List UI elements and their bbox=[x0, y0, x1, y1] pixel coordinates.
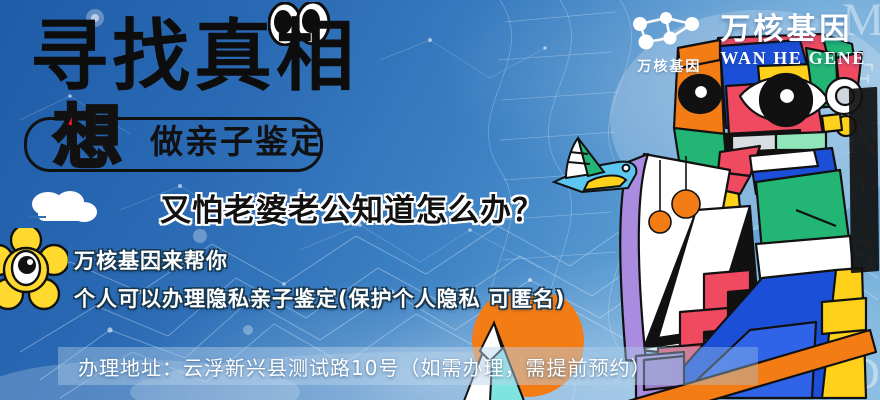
flower-with-eye-icon bbox=[0, 228, 68, 312]
stamp-character: 想 bbox=[53, 104, 122, 173]
cloud-icon bbox=[22, 190, 102, 224]
brand-text: 万核基因 WAN HE GENE bbox=[720, 8, 866, 69]
promo-banner: WOMEN'S DAY bbox=[0, 0, 880, 400]
body-line-2: 个人可以办理隐私亲子鉴定(保护个人隐私 可匿名) bbox=[74, 283, 566, 313]
bird-icon bbox=[548, 128, 644, 206]
molecule-network-icon: 万核基因 bbox=[626, 8, 712, 80]
body-line-1: 万核基因来帮你 bbox=[74, 245, 228, 275]
address-text: 办理地址：云浮新兴县测试路10号（如需办理，需提前预约） bbox=[78, 352, 778, 381]
logo-mark-label: 万核基因 bbox=[628, 56, 710, 76]
brand-name-en: WAN HE GENE bbox=[720, 48, 866, 69]
pill-label: 做亲子鉴定 bbox=[150, 124, 330, 160]
page-title: 寻找真相 bbox=[30, 18, 358, 96]
question-line: 又怕老婆老公知道怎么办？ bbox=[160, 185, 544, 230]
brand-logo[interactable]: 万核基因 万核基因 WAN HE GENE bbox=[626, 8, 866, 80]
brand-name-cn: 万核基因 bbox=[720, 14, 866, 46]
